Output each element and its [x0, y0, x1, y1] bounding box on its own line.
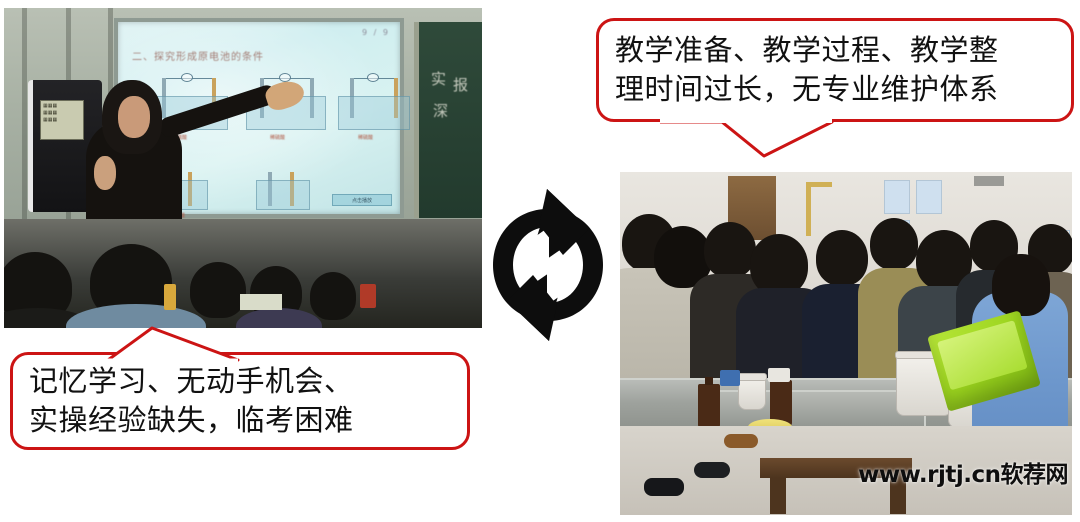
- red-container: [360, 284, 376, 308]
- classroom-lecture-photo: ▦▦▦▦▦▦▦▦▦ 9 / 9 二、探究形成原电池的条件 稀硫酸 稀硫酸: [4, 8, 482, 328]
- slide-page-number: 9 / 9: [362, 28, 390, 37]
- small-white-container: [738, 376, 766, 410]
- brown-reagent-bottle: [698, 384, 720, 428]
- wall-seam: [22, 8, 27, 226]
- slide-toolbar: 点击播放: [332, 194, 392, 206]
- shoe: [644, 478, 684, 496]
- lab-worker-head: [992, 254, 1050, 316]
- slide-title: 二、探究形成原电池的条件: [132, 48, 264, 63]
- ceiling-fixture: [974, 176, 1004, 186]
- drink-bottle: [164, 284, 176, 310]
- observer-head: [816, 230, 868, 286]
- lab-faucet: [806, 182, 811, 236]
- wall-poster: [916, 180, 942, 214]
- shoe: [724, 434, 758, 448]
- callout-tail-down: [660, 118, 840, 162]
- console-keypad: ▦▦▦▦▦▦▦▦▦: [40, 100, 84, 140]
- stool-leg: [770, 478, 786, 514]
- teacher-hand-raised: [94, 156, 116, 190]
- wall-poster: [884, 180, 910, 214]
- chalkboard: 实 报 深: [414, 22, 482, 218]
- observer-head: [704, 222, 756, 278]
- observer-head: [870, 218, 918, 270]
- student-head: [190, 262, 246, 318]
- observer-head: [750, 234, 808, 296]
- teacher-face: [118, 96, 150, 138]
- sync-refresh-icon: [487, 187, 609, 343]
- site-watermark: www.rjtj.cn软荐网: [858, 455, 1068, 489]
- lab-demonstration-photo: www.rjtj.cn软荐网: [620, 172, 1072, 515]
- students-foreground: [4, 219, 482, 328]
- slide-canvas: ▦▦▦▦▦▦▦▦▦ 9 / 9 二、探究形成原电池的条件 稀硫酸 稀硫酸: [0, 0, 1080, 522]
- student-head: [310, 272, 356, 320]
- jar-lid: [768, 368, 790, 382]
- callout-teaching-workflow-text: 教学准备、教学过程、教学整 理时间过长，无专业维护体系: [599, 29, 1009, 111]
- desk-paper: [240, 294, 282, 310]
- callout-tail-up: [52, 322, 242, 364]
- callout-teaching-workflow: 教学准备、教学过程、教学整 理时间过长，无专业维护体系: [596, 18, 1074, 122]
- shoe: [694, 462, 730, 478]
- blue-lid-jar: [720, 370, 740, 386]
- callout-learning-problem-text: 记忆学习、无动手机会、 实操经验缺失，临考困难: [13, 360, 364, 442]
- callout-learning-problem: 记忆学习、无动手机会、 实操经验缺失，临考困难: [10, 352, 470, 450]
